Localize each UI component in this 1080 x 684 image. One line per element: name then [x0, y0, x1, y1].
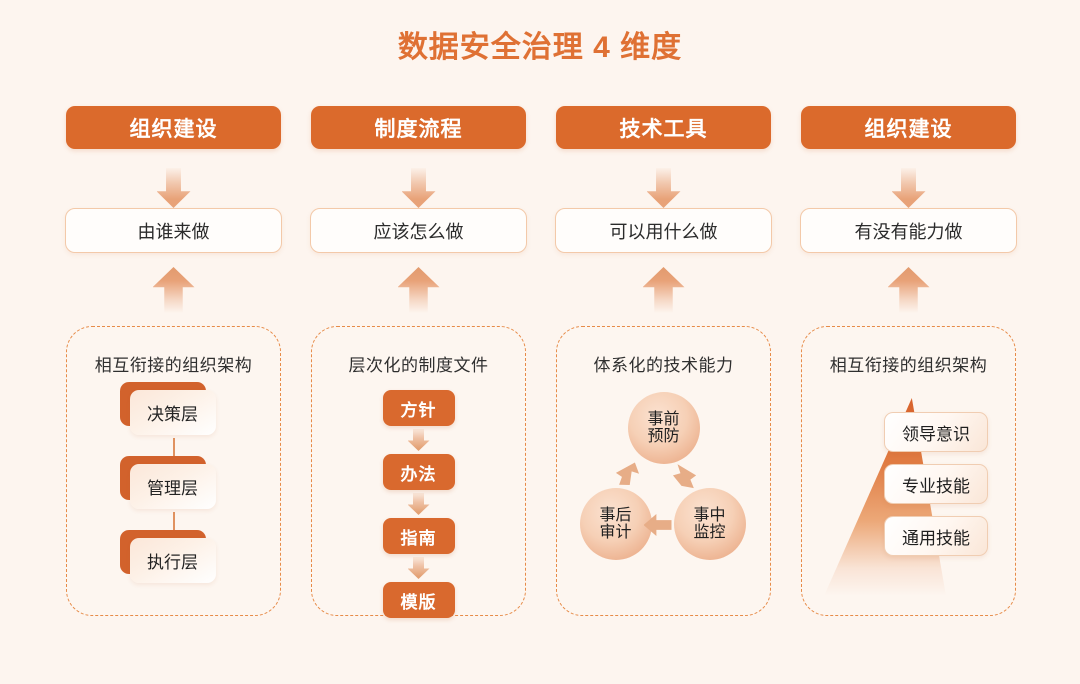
cycle-node-line2: 预防 — [647, 428, 679, 445]
column-organization: 组织建设 由谁来做 相互衔接的组织架构 决策层 管理层 — [66, 106, 281, 636]
document-flow: 方针 办法 指南 模版 — [383, 390, 455, 618]
column-header-4[interactable]: 组织建设 — [801, 106, 1016, 149]
column-question-4[interactable]: 有没有能力做 — [800, 208, 1017, 253]
page-title: 数据安全治理 4 维度 — [0, 22, 1080, 66]
cycle-node[interactable]: 事前 预防 — [628, 392, 700, 464]
layer-item[interactable]: 管理层 — [130, 464, 216, 512]
cycle-node-line1: 事中 — [693, 507, 725, 524]
cycle-node[interactable]: 事后 审计 — [580, 488, 652, 560]
column-header-3[interactable]: 技术工具 — [556, 106, 771, 149]
cycle-node-line1: 事后 — [599, 507, 631, 524]
arrow-up-icon — [153, 267, 195, 313]
layer-stack: 决策层 管理层 执行层 — [114, 390, 234, 600]
arrow-down-icon — [408, 429, 430, 451]
arrow-down-icon — [408, 493, 430, 515]
cycle-node-line1: 事前 — [647, 411, 679, 428]
detail-box-1: 相互衔接的组织架构 决策层 管理层 执行层 — [66, 326, 281, 616]
layer-item[interactable]: 决策层 — [130, 390, 216, 438]
detail-box-2: 层次化的制度文件 方针 办法 指南 模版 — [311, 326, 526, 616]
column-question-2[interactable]: 应该怎么做 — [310, 208, 527, 253]
detail-title-2: 层次化的制度文件 — [349, 351, 489, 376]
pyramid-item[interactable]: 通用技能 — [884, 516, 988, 556]
capability-cycle: 事前 预防 事中 监控 事后 审计 — [564, 392, 764, 607]
doc-item[interactable]: 方针 — [383, 390, 455, 426]
columns-container: 组织建设 由谁来做 相互衔接的组织架构 决策层 管理层 — [66, 106, 1016, 636]
pyramid-item[interactable]: 领导意识 — [884, 412, 988, 452]
cycle-arrow-icon — [670, 463, 696, 489]
cycle-arrow-icon — [615, 461, 641, 487]
arrow-down-icon — [408, 557, 430, 579]
arrow-down-icon — [892, 168, 926, 208]
detail-box-3: 体系化的技术能力 事前 预防 事中 监控 事后 审计 — [556, 326, 771, 616]
layer-label: 决策层 — [130, 390, 216, 435]
layer-label: 管理层 — [130, 464, 216, 509]
arrow-down-icon — [157, 168, 191, 208]
layer-item[interactable]: 执行层 — [130, 538, 216, 586]
column-header-1[interactable]: 组织建设 — [66, 106, 281, 149]
pyramid-item[interactable]: 专业技能 — [884, 464, 988, 504]
detail-title-4: 相互衔接的组织架构 — [830, 351, 988, 376]
column-question-1[interactable]: 由谁来做 — [65, 208, 282, 253]
arrow-up-icon — [643, 267, 685, 313]
arrow-down-icon — [402, 168, 436, 208]
diagram-canvas: 数据安全治理 4 维度 组织建设 由谁来做 相互衔接的组织架构 决策层 — [0, 0, 1080, 684]
arrow-up-icon — [888, 267, 930, 313]
cycle-node-line2: 监控 — [693, 524, 725, 541]
doc-item[interactable]: 办法 — [383, 454, 455, 490]
column-process: 制度流程 应该怎么做 层次化的制度文件 方针 办法 指南 模版 — [311, 106, 526, 636]
column-technology: 技术工具 可以用什么做 体系化的技术能力 事前 预防 事中 监控 事后 — [556, 106, 771, 636]
arrow-down-icon — [647, 168, 681, 208]
doc-item[interactable]: 模版 — [383, 582, 455, 618]
detail-title-3: 体系化的技术能力 — [594, 351, 734, 376]
column-question-3[interactable]: 可以用什么做 — [555, 208, 772, 253]
capability-pyramid: 领导意识 专业技能 通用技能 — [806, 392, 1011, 607]
layer-label: 执行层 — [130, 538, 216, 583]
detail-box-4: 相互衔接的组织架构 领导意识 专业技能 通用技能 — [801, 326, 1016, 616]
arrow-up-icon — [398, 267, 440, 313]
doc-item[interactable]: 指南 — [383, 518, 455, 554]
cycle-node-line2: 审计 — [599, 524, 631, 541]
detail-title-1: 相互衔接的组织架构 — [95, 351, 253, 376]
cycle-node[interactable]: 事中 监控 — [674, 488, 746, 560]
column-header-2[interactable]: 制度流程 — [311, 106, 526, 149]
column-capability: 组织建设 有没有能力做 相互衔接的组织架构 领导意识 专业技能 通用技能 — [801, 106, 1016, 636]
